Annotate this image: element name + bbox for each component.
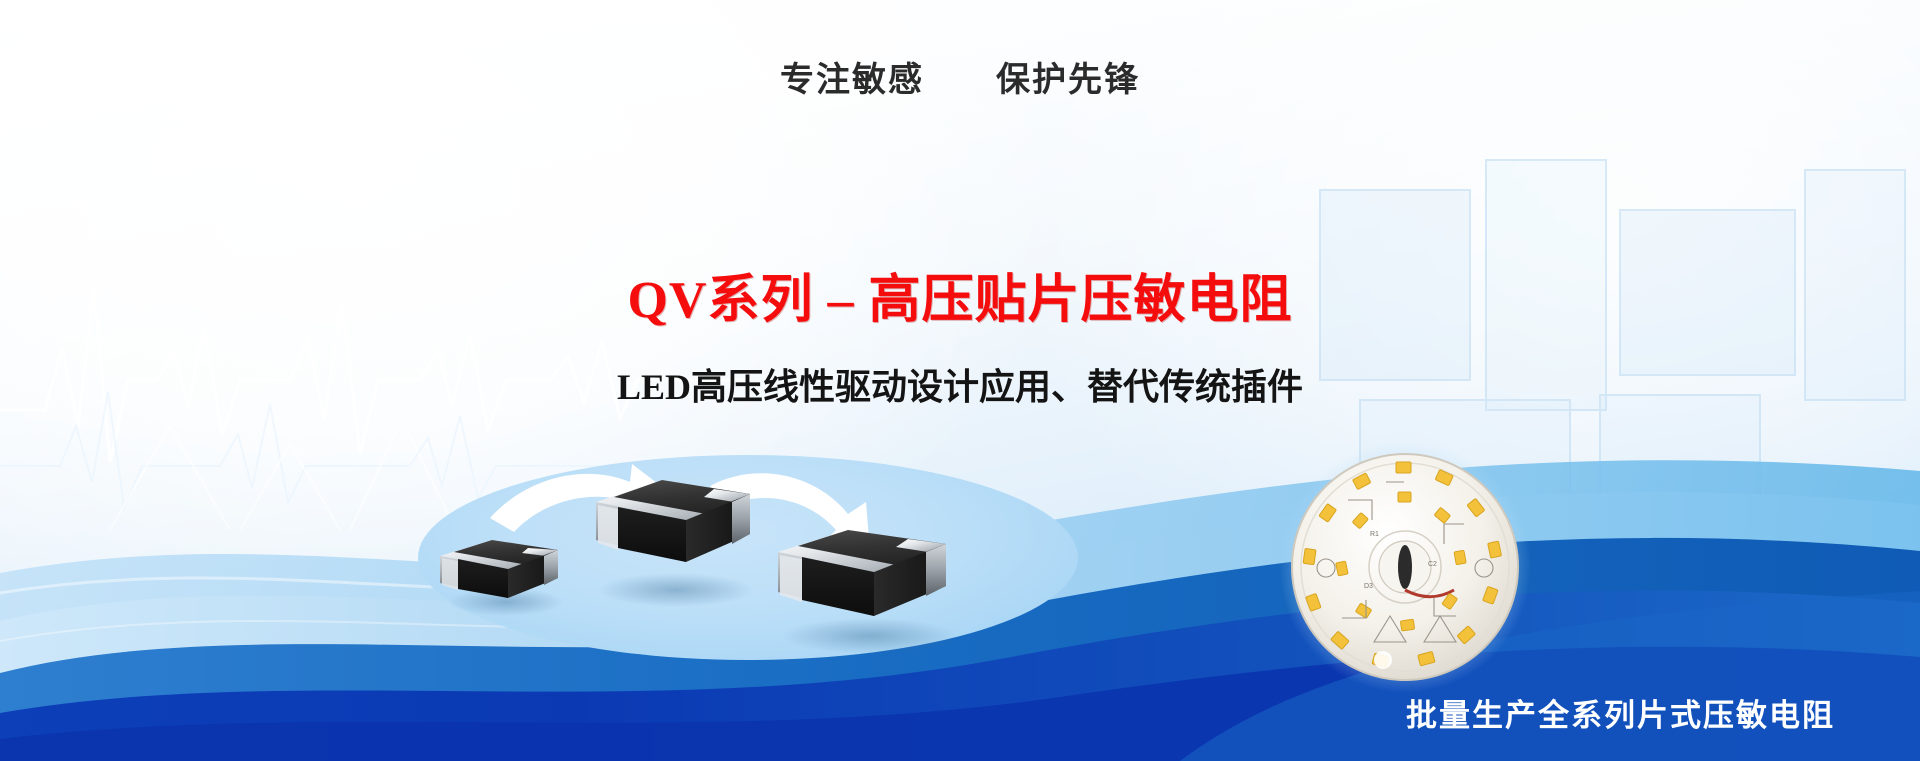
banner-caption: 批量生产全系列片式压敏电阻 <box>0 690 1920 735</box>
product-banner: R1 C2 D3 专注敏感 保护先锋 QV系列 – 高压贴片压敏电阻 LED高压… <box>0 0 1920 761</box>
banner-title: QV系列 – 高压贴片压敏电阻 <box>0 257 1920 332</box>
smd-varistor-medium <box>596 480 754 607</box>
smd-varistor-large <box>778 530 958 654</box>
banner-subtitle: LED高压线性驱动设计应用、替代传统插件 <box>0 358 1920 410</box>
svg-text:C2: C2 <box>1428 561 1437 568</box>
product-chips-graphic <box>418 440 1078 670</box>
svg-text:R1: R1 <box>1370 531 1379 538</box>
smd-varistor-small <box>440 540 564 616</box>
led-module-graphic: R1 C2 D3 <box>1278 440 1533 695</box>
banner-tagline: 专注敏感 保护先锋 <box>0 52 1920 101</box>
svg-text:D3: D3 <box>1364 583 1373 590</box>
